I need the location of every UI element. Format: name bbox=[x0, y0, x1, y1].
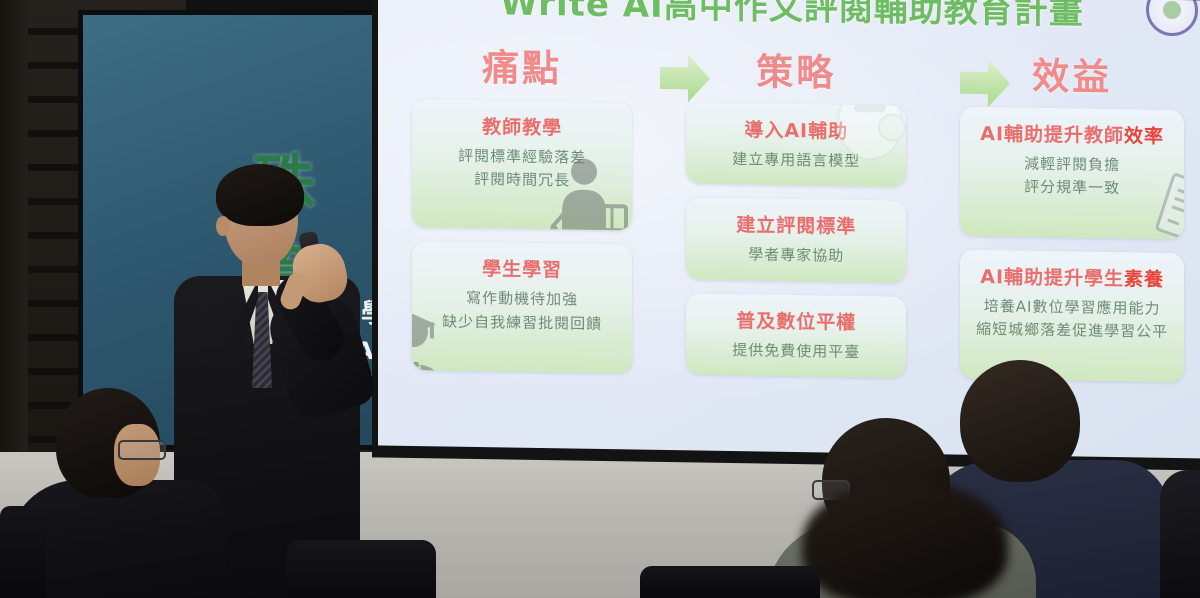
chair-back-center bbox=[640, 566, 820, 598]
presenter-ear bbox=[216, 216, 230, 236]
audience-member-far-right bbox=[1160, 470, 1200, 598]
student-icon bbox=[412, 307, 452, 373]
wall-edge bbox=[0, 0, 28, 452]
column-header-benefits: 效益 bbox=[960, 45, 1184, 111]
card-line: 減輕評閱負擔 bbox=[970, 152, 1174, 178]
card-teacher-efficiency[interactable]: AI輔助提升教師效率 減輕評閱負擔 評分規準一致 bbox=[960, 107, 1184, 240]
presenter-hair bbox=[216, 164, 304, 226]
card-title-highlight: 素養 bbox=[1124, 268, 1164, 291]
card-review-standard[interactable]: 建立評閱標準 學者專家協助 bbox=[686, 198, 906, 283]
chair-back-left bbox=[286, 540, 436, 598]
column-header-pain-points: 痛點 bbox=[412, 36, 632, 102]
card-title: 學生學習 bbox=[422, 254, 622, 284]
document-certificate-icon: ★ bbox=[1152, 173, 1184, 240]
card-introduce-ai[interactable]: 導入AI輔助 建立專用語言模型 bbox=[686, 102, 906, 187]
card-title: AI輔助提升學生素養 bbox=[970, 262, 1174, 292]
chair-back-far-left bbox=[0, 506, 46, 598]
column-benefits: 效益 AI輔助提升教師效率 減輕評閱負擔 評分規準一致 bbox=[960, 45, 1184, 397]
column-header-strategy: 策略 bbox=[686, 40, 906, 105]
audience-member-left bbox=[18, 388, 228, 598]
card-line: 培養AI數位學習應用能力 bbox=[970, 295, 1174, 321]
card-teacher-instruction[interactable]: 教師教學 評閱標準經驗落差 評閱時間冗長 bbox=[412, 99, 632, 231]
presentation-photo: 硃篁 學 AI個 Write AI高中作文評閱輔助教育計畫 bbox=[0, 0, 1200, 598]
slide-columns: 痛點 教師教學 評閱標準經驗落差 評閱時間冗長 bbox=[412, 36, 1184, 396]
card-student-learning[interactable]: 學生學習 寫作動機待加強 缺少自我練習批閱回饋 bbox=[412, 241, 632, 373]
column-pain-points: 痛點 教師教學 評閱標準經驗落差 評閱時間冗長 bbox=[412, 36, 632, 387]
glasses-icon bbox=[118, 440, 166, 460]
card-title: AI輔助提升教師效率 bbox=[970, 119, 1174, 149]
card-title: 建立評閱標準 bbox=[696, 210, 896, 240]
card-title: 教師教學 bbox=[422, 111, 622, 141]
card-title-text: AI輔助提升學生 bbox=[980, 266, 1124, 290]
card-title-text: AI輔助提升教師 bbox=[980, 123, 1124, 147]
robot-mascot-icon bbox=[830, 102, 906, 164]
card-line: 缺少自我練習批閱回饋 bbox=[422, 310, 622, 336]
slide-title: Write AI高中作文評閱輔助教育計畫 bbox=[378, 0, 1200, 36]
card-title-highlight: 效率 bbox=[1124, 125, 1164, 148]
column-strategy: 策略 導入AI輔助 建立專用語言模型 bbox=[686, 40, 906, 391]
card-line: 縮短城鄉落差促進學習公平 bbox=[970, 318, 1174, 344]
card-line: 寫作動機待加強 bbox=[422, 287, 622, 313]
card-line: 提供免費使用平臺 bbox=[696, 338, 896, 364]
card-line: 學者專家協助 bbox=[696, 243, 896, 269]
card-digital-equity[interactable]: 普及數位平權 提供免費使用平臺 bbox=[686, 293, 906, 378]
card-title: 普及數位平權 bbox=[696, 305, 896, 335]
teacher-icon bbox=[550, 154, 628, 231]
card-line: 評分規準一致 bbox=[970, 175, 1174, 201]
audience-member-foreground bbox=[802, 480, 1042, 598]
